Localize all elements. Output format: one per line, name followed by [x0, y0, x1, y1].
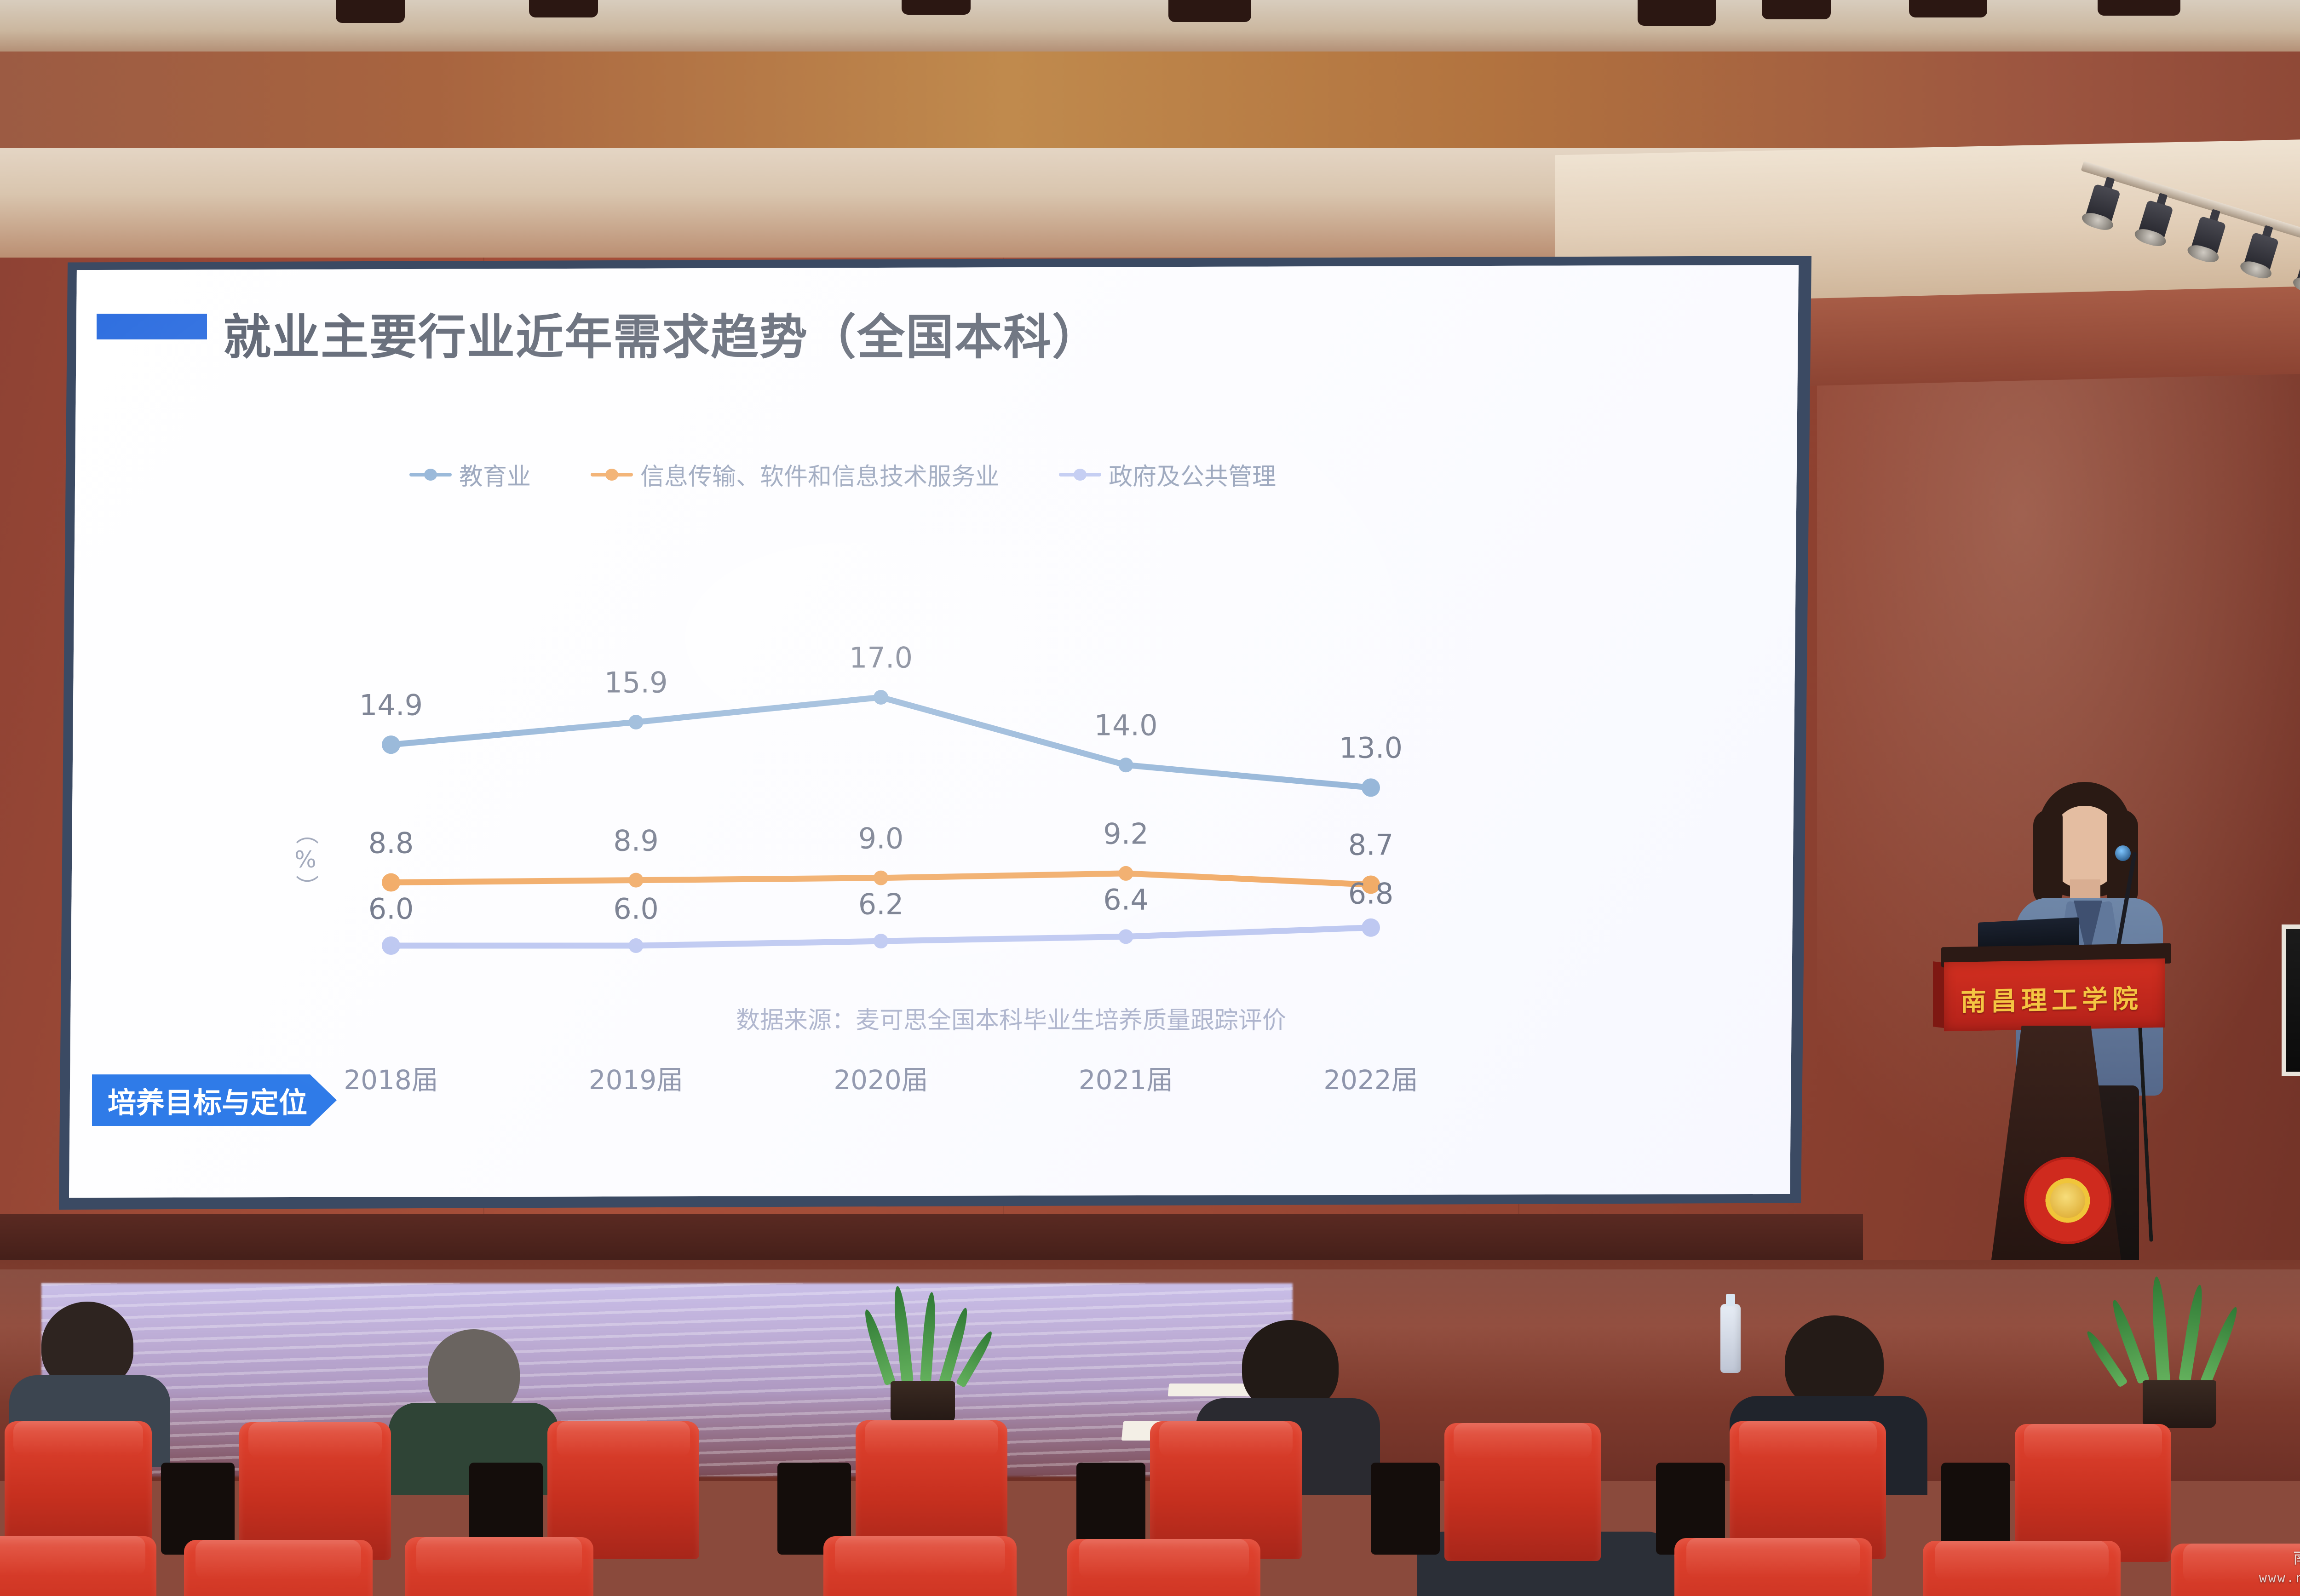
ceiling-speaker: [1168, 0, 1251, 22]
data-label: 8.7: [1348, 828, 1394, 862]
chart-point: [1119, 866, 1133, 881]
data-label: 6.0: [368, 892, 414, 926]
ceiling-speaker: [529, 0, 598, 17]
wall-wood-band: [0, 52, 2300, 150]
chart-point: [874, 690, 888, 705]
chart-point: [382, 936, 400, 955]
x-axis-label: 2019届: [589, 1058, 684, 1097]
chart-svg: [69, 265, 1799, 1198]
stage-light-icon: [2238, 221, 2286, 281]
data-label: 6.8: [1348, 877, 1394, 910]
data-label: 9.2: [1103, 817, 1149, 850]
ceiling-speaker: [1638, 0, 1716, 26]
water-bottle: [1720, 1304, 1741, 1373]
chart-point: [382, 873, 400, 892]
auditorium-seat: [1150, 1421, 1302, 1559]
auditorium-seat: [239, 1422, 391, 1560]
chart-point: [874, 871, 888, 885]
potted-plant: [846, 1286, 998, 1424]
chart-point: [1362, 919, 1380, 937]
chart-source-note: 数据来源：麦可思全国本科毕业生培养质量跟踪评价: [736, 1001, 1286, 1035]
podium-school-name: 南昌理工学院: [1950, 978, 2153, 1019]
data-label: 6.4: [1103, 883, 1149, 917]
stage-light-icon: [2291, 237, 2300, 297]
stage-light-icon: [2080, 173, 2127, 232]
x-axis-label: 2018届: [344, 1058, 438, 1097]
projection-screen: 就业主要行业近年需求趋势（全国本科） 教育业 信息传输、软件和信息技术服务业: [69, 265, 1799, 1198]
chart-point: [382, 735, 400, 754]
watermark-url: www.nut.edu.cn: [2259, 1569, 2300, 1587]
school-seal-icon: [2026, 1159, 2109, 1242]
paper-sheet: [1168, 1384, 1257, 1396]
ceiling-speaker: [2098, 0, 2180, 16]
data-label: 6.2: [858, 888, 904, 921]
ceiling-speaker: [1762, 0, 1831, 19]
auditorium-seat: [405, 1537, 593, 1596]
chart-point: [1362, 778, 1380, 797]
presentation-slide: 就业主要行业近年需求趋势（全国本科） 教育业 信息传输、软件和信息技术服务业: [69, 265, 1799, 1198]
ceiling-speaker: [1909, 0, 1987, 17]
chart-point: [629, 715, 644, 729]
data-label: 14.9: [359, 689, 423, 722]
stage-light-icon: [2132, 189, 2180, 248]
data-label: 8.9: [613, 824, 659, 857]
auditorium-seat: [1674, 1538, 1872, 1596]
chart-line-0: [391, 697, 1371, 787]
x-axis-label: 2022届: [1323, 1058, 1418, 1097]
x-axis-label: 2020届: [834, 1058, 928, 1097]
wall-window: [2282, 924, 2300, 1076]
data-label: 17.0: [849, 641, 913, 675]
seat-shadow: [1371, 1463, 1440, 1555]
auditorium-seat: [184, 1540, 373, 1596]
chart-point: [1119, 758, 1133, 772]
auditorium-seat: [1444, 1423, 1601, 1561]
auditorium-seat: [1923, 1541, 2121, 1596]
audience-seating: [0, 1269, 2300, 1596]
chart-point: [629, 873, 644, 888]
auditorium-seat: [0, 1536, 156, 1596]
section-badge: 培养目标与定位: [92, 1074, 337, 1126]
chart-point: [629, 938, 644, 953]
stage-light-icon: [2185, 205, 2233, 264]
auditorium-seat: [5, 1421, 152, 1555]
potted-plant: [2088, 1276, 2254, 1428]
ceiling-speaker: [336, 0, 405, 23]
auditorium-seat: [823, 1536, 1017, 1596]
auditorium-seat: [1067, 1539, 1260, 1596]
x-axis-label: 2021届: [1079, 1058, 1173, 1097]
data-label: 9.0: [858, 821, 904, 855]
data-label: 13.0: [1339, 731, 1403, 765]
data-label: 14.0: [1094, 709, 1157, 742]
auditorium-scene: 就业主要行业近年需求趋势（全国本科） 教育业 信息传输、软件和信息技术服务业: [0, 0, 2300, 1596]
data-label: 15.9: [604, 666, 667, 700]
watermark-school: 南昌理工学院: [2259, 1548, 2300, 1569]
ceiling-speaker: [902, 0, 971, 15]
podium: 南昌理工学院: [1941, 842, 2199, 1274]
chart-point: [874, 934, 888, 948]
line-chart: （%） 14.915.917.014.013.08.88.99.09.28.76…: [69, 265, 1799, 1198]
watermark: 南昌理工学院 www.nut.edu.cn: [2259, 1548, 2300, 1587]
data-label: 6.0: [613, 892, 659, 926]
data-label: 8.8: [368, 826, 414, 860]
chart-point: [1119, 929, 1133, 944]
